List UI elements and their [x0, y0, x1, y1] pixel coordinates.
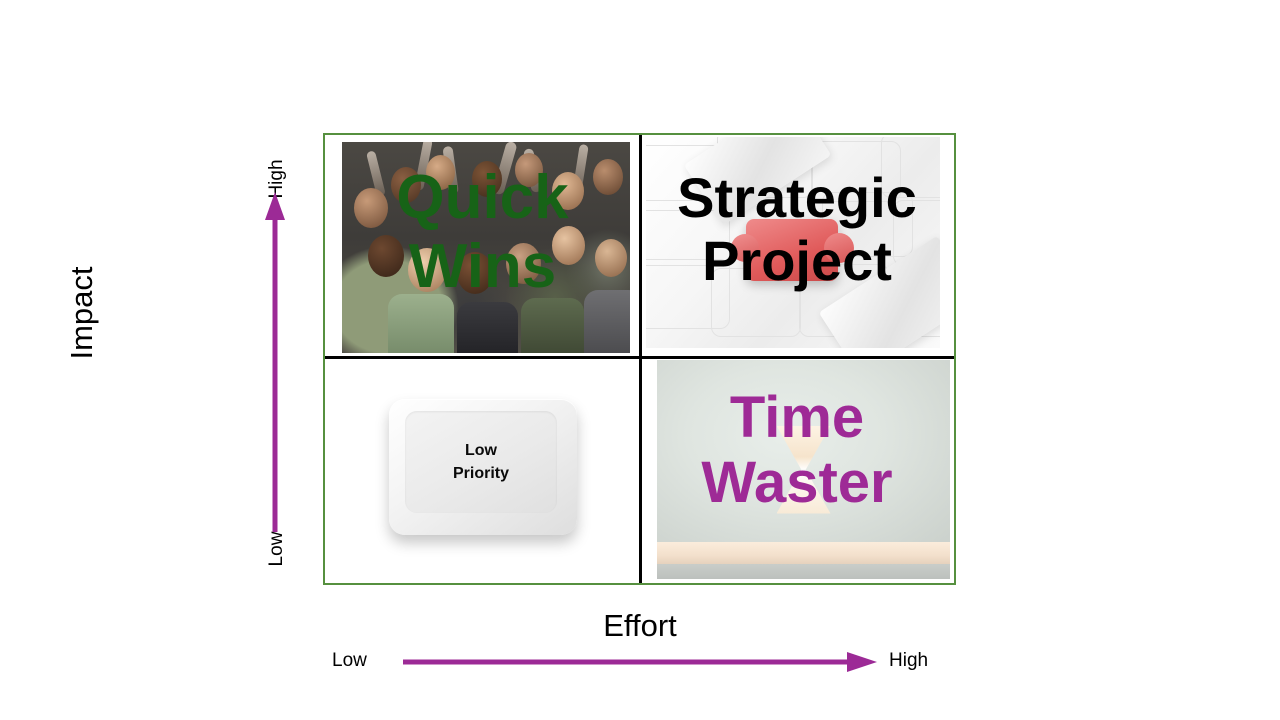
x-axis-tick-high: High	[889, 650, 928, 672]
y-axis-arrow-icon	[264, 192, 286, 532]
hourglass-image	[657, 360, 950, 579]
x-axis-title: Effort	[540, 608, 740, 644]
x-axis-tick-low: Low	[332, 650, 367, 672]
matrix-vertical-divider	[639, 135, 642, 583]
quadrant-label-line2: Priority	[453, 462, 509, 485]
y-axis-title: Impact	[64, 223, 100, 403]
quadrant-quick-wins[interactable]: Quick Wins	[325, 135, 640, 358]
matrix-slide: Impact High Low	[0, 0, 1280, 720]
cheering-crowd-image	[342, 142, 630, 353]
quadrant-strategic-project[interactable]: Strategic Project	[640, 135, 954, 358]
impact-effort-matrix: Quick Wins	[323, 133, 956, 585]
quadrant-time-waster[interactable]: Time Waster	[640, 358, 954, 583]
matrix-horizontal-divider	[325, 356, 954, 359]
quadrant-label-line1: Low	[465, 439, 497, 462]
keycap-face: Low Priority	[405, 411, 557, 513]
quadrant-low-priority[interactable]: Low Priority	[325, 358, 640, 583]
keyboard-key-image: Low Priority	[389, 399, 577, 535]
jigsaw-puzzle-image	[646, 137, 940, 348]
x-axis-arrow-icon	[403, 652, 877, 672]
